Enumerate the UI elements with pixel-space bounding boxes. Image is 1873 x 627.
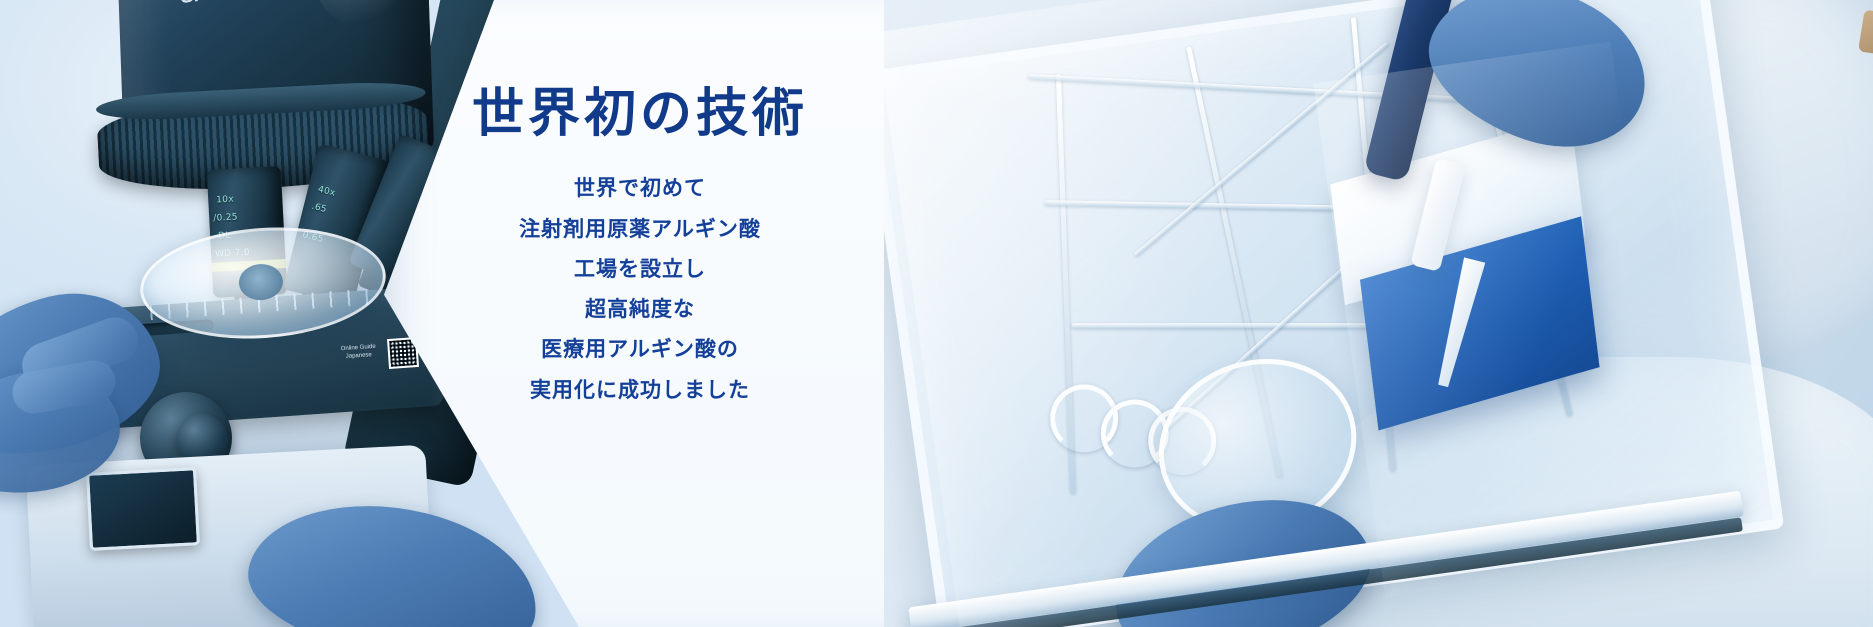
laboratory-photo (828, 0, 1873, 627)
hero-text-block: 世界初の技術 世界で初めて 注射剤用原薬アルギン酸 工場を設立し 超高純度な 医… (420, 0, 860, 627)
laboratory-photo-content (828, 0, 1873, 627)
hero-description-line: 注射剤用原薬アルギン酸 (519, 210, 761, 250)
hero-description-line: 工場を設立し (519, 250, 761, 290)
objective-label-65: .65 (311, 202, 328, 215)
objective-label-40x: 40x (317, 185, 337, 199)
hero-description: 世界で初めて 注射剤用原薬アルギン酸 工場を設立し 超高純度な 医療用アルギン酸… (519, 169, 761, 411)
hero-description-line: 世界で初めて (519, 169, 761, 209)
suit-patch (1858, 10, 1873, 61)
hero-description-line: 超高純度な (519, 290, 761, 330)
microscope-display-screen (86, 467, 200, 551)
page-title: 世界初の技術 (472, 86, 808, 143)
hero-description-line: 医療用アルギン酸の (519, 330, 761, 370)
objective-label-na: /0.25 (213, 212, 238, 223)
microscope-model-label: Si (179, 0, 201, 9)
online-guide-label: Online Guide Japanese (340, 343, 376, 361)
objective-label-10x: 10x (216, 195, 234, 206)
hero-description-line: 実用化に成功しました (519, 371, 761, 411)
hero-banner: Nikon ECLIPSE Si 10x /0.25 DL WD 7.0 40x… (0, 0, 1873, 627)
